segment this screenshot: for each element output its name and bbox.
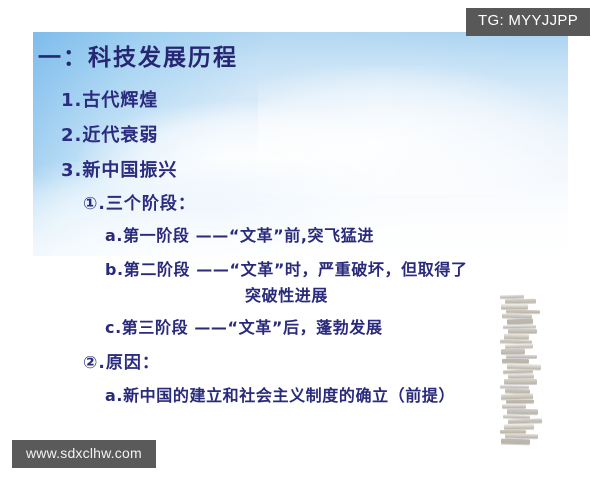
slide-title: 一：科技发展历程	[38, 38, 238, 72]
outline-text: 近代衰弱	[82, 125, 158, 146]
outline-text: 新中国的建立和社会主义制度的确立（前提）	[123, 386, 455, 405]
outline-item-circle-1: ①.三个阶段：	[83, 189, 196, 214]
outline-marker: 1.	[61, 90, 82, 111]
outline-text: 新中国振兴	[82, 160, 177, 181]
outline-text: 第三阶段 ——“文革”后，蓬勃发展	[122, 318, 383, 337]
outline-item-a-stage-one: a.第一阶段 ——“文革”前,突飞猛进	[105, 222, 374, 246]
outline-text: 第二阶段 ——“文革”时，严重破坏，但取得了	[124, 260, 468, 279]
outline-item-reason-a: a.新中国的建立和社会主义制度的确立（前提）	[105, 382, 455, 406]
outline-marker: ②.	[83, 353, 106, 373]
outline-item-b-stage-two: b.第二阶段 ——“文革”时，严重破坏，但取得了	[105, 256, 468, 280]
outline-marker: b.	[105, 260, 124, 279]
slide-content: 一：科技发展历程 1.古代辉煌 2.近代衰弱 3.新中国振兴 ①.三个阶段： a…	[33, 32, 568, 462]
outline-item-c-stage-three: c.第三阶段 ——“文革”后，蓬勃发展	[105, 314, 383, 338]
page-canvas: 一：科技发展历程 1.古代辉煌 2.近代衰弱 3.新中国振兴 ①.三个阶段： a…	[0, 0, 600, 480]
site-url-watermark: www.sdxclhw.com	[12, 440, 156, 468]
outline-marker: 2.	[61, 125, 82, 146]
presentation-slide: 一：科技发展历程 1.古代辉煌 2.近代衰弱 3.新中国振兴 ①.三个阶段： a…	[33, 32, 568, 462]
telegram-watermark-badge: TG: MYYJJPP	[466, 8, 590, 36]
outline-text: 突破性进展	[245, 286, 328, 305]
outline-item-b-continuation: 突破性进展	[245, 282, 328, 306]
outline-marker: ①.	[83, 194, 106, 214]
outline-text: 原因：	[106, 353, 160, 373]
outline-marker: a.	[105, 226, 123, 245]
outline-text: 第一阶段 ——“文革”前,突飞猛进	[123, 226, 374, 245]
outline-item-2: 2.近代衰弱	[61, 121, 158, 147]
outline-marker: 3.	[61, 160, 82, 181]
outline-text: 三个阶段：	[106, 194, 196, 214]
outline-text: 古代辉煌	[82, 90, 158, 111]
outline-marker: a.	[105, 386, 123, 405]
outline-item-3: 3.新中国振兴	[61, 156, 177, 182]
outline-item-circle-2: ②.原因：	[83, 348, 160, 373]
outline-item-1: 1.古代辉煌	[61, 86, 158, 112]
outline-marker: c.	[105, 318, 122, 337]
